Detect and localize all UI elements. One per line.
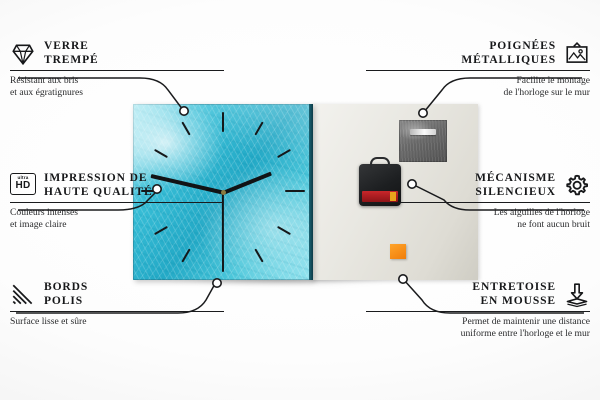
feature-title: VERRE TREMPÉ — [44, 40, 99, 67]
divider — [366, 311, 590, 312]
metal-hanger-plate — [399, 120, 447, 162]
feature-description: Résistant aux bris et aux égratignures — [10, 75, 224, 98]
diamond-icon — [10, 41, 36, 67]
arrow-onto-layers-icon — [564, 282, 590, 308]
hanger-slot — [410, 129, 436, 135]
feature-entretoise-en-mousse: ENTRETOISE EN MOUSSE Permet de maintenir… — [366, 281, 590, 340]
feature-title: BORDS POLIS — [44, 281, 88, 308]
feature-title: ENTRETOISE EN MOUSSE — [472, 281, 556, 308]
infographic-stage: VERRE TREMPÉ Résistant aux bris et aux é… — [0, 0, 600, 400]
feature-title: MÉCANISME SILENCIEUX — [475, 172, 556, 199]
divider — [366, 202, 590, 203]
feature-description: Couleurs intenses et image claire — [10, 207, 224, 230]
foam-spacer — [390, 244, 406, 259]
feature-description: Les aiguilles de l'horloge ne font aucun… — [366, 207, 590, 230]
feature-verre-trempe: VERRE TREMPÉ Résistant aux bris et aux é… — [10, 40, 224, 99]
feature-bords-polis: BORDS POLIS Surface lisse et sûre — [10, 281, 224, 328]
feature-description: Surface lisse et sûre — [10, 316, 224, 328]
divider — [10, 311, 224, 312]
feature-title: POIGNÉES MÉTALLIQUES — [461, 40, 556, 67]
feature-header: POIGNÉES MÉTALLIQUES — [366, 40, 590, 67]
divider — [10, 70, 224, 71]
divider — [366, 70, 590, 71]
feature-header: VERRE TREMPÉ — [10, 40, 224, 67]
gear-icon — [564, 173, 590, 199]
feature-poignees-metalliques: POIGNÉES MÉTALLIQUES Facilite le montage… — [366, 40, 590, 99]
feature-header: ultra HD IMPRESSION DE HAUTE QUALITÉ — [10, 172, 224, 199]
ultra-hd-icon: ultra HD — [10, 173, 36, 199]
glass-edge — [309, 104, 313, 280]
tick-mark — [222, 252, 224, 272]
tick-mark — [285, 190, 305, 192]
polished-edge-icon — [10, 282, 36, 308]
feature-header: ENTRETOISE EN MOUSSE — [366, 281, 590, 308]
mechanism-hook — [370, 157, 390, 168]
feature-impression-haute-qualite: ultra HD IMPRESSION DE HAUTE QUALITÉ Cou… — [10, 172, 224, 231]
divider — [10, 202, 224, 203]
feature-description: Permet de maintenir une distance uniform… — [366, 316, 590, 339]
tick-mark — [222, 112, 224, 132]
feature-description: Facilite le montage de l'horloge sur le … — [366, 75, 590, 98]
hanging-frame-icon — [564, 41, 590, 67]
feature-title: IMPRESSION DE HAUTE QUALITÉ — [44, 172, 153, 199]
feature-mecanisme-silencieux: MÉCANISME SILENCIEUX Les aiguilles de l'… — [366, 172, 590, 231]
feature-header: MÉCANISME SILENCIEUX — [366, 172, 590, 199]
feature-header: BORDS POLIS — [10, 281, 224, 308]
